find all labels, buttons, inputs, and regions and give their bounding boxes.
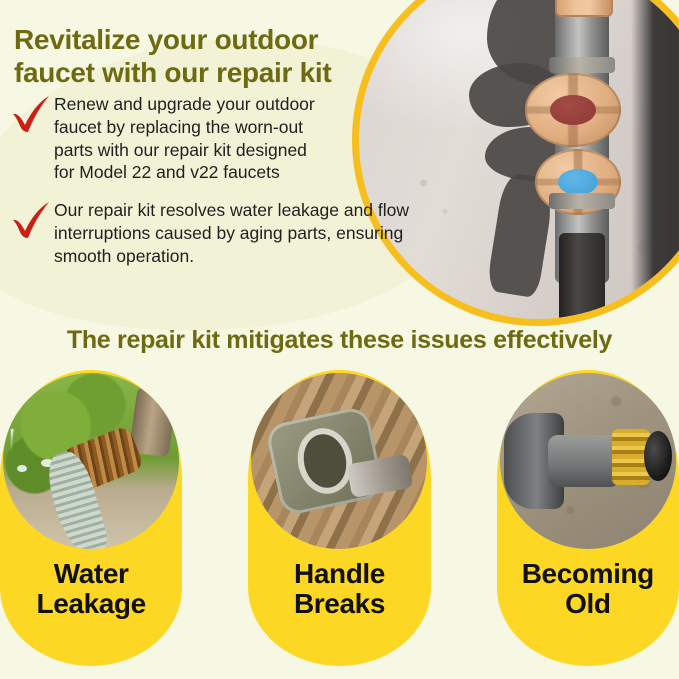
page-title: Revitalize your outdoor faucet with our … <box>14 24 364 90</box>
product-infographic: Revitalize your outdoor faucet with our … <box>0 0 679 679</box>
red-check-icon <box>8 200 54 240</box>
leaking-hose-connection-photo <box>3 373 179 549</box>
card-label-line-1: Becoming <box>522 559 654 589</box>
list-item-text: Renew and upgrade your outdoor faucet by… <box>54 92 322 184</box>
card-label-line-2: Breaks <box>294 589 385 619</box>
list-item-text: Our repair kit resolves water leakage an… <box>54 198 426 267</box>
attached-hose <box>559 233 605 319</box>
handle-center-hole <box>299 430 351 492</box>
faucet-top-cap <box>555 0 613 17</box>
cold-handle-cap <box>558 169 598 195</box>
hot-handle-cap <box>550 95 596 125</box>
list-item: Our repair kit resolves water leakage an… <box>8 198 428 267</box>
card-label-line-2: Old <box>522 589 654 619</box>
faucet-collar <box>549 57 615 73</box>
card-label-line-1: Water <box>37 559 146 589</box>
faucet-hot-handle <box>525 73 621 147</box>
card-label-line-2: Leakage <box>37 589 146 619</box>
card-label-line-1: Handle <box>294 559 385 589</box>
card-label: Becoming Old <box>522 559 654 618</box>
corroded-old-faucet-photo <box>500 373 676 549</box>
issue-card-list: Water Leakage Handle Breaks <box>0 370 679 670</box>
issue-card-handle-breaks: Handle Breaks <box>248 370 430 666</box>
issue-card-becoming-old: Becoming Old <box>497 370 679 666</box>
list-item: Renew and upgrade your outdoor faucet by… <box>8 92 428 184</box>
faucet-lower-collar <box>549 193 615 209</box>
issue-card-water-leakage: Water Leakage <box>0 370 182 666</box>
red-check-icon <box>8 94 54 134</box>
old-faucet-body <box>548 435 620 487</box>
card-label: Handle Breaks <box>294 559 385 618</box>
broken-faucet-handle-photo <box>251 373 427 549</box>
benefit-list: Renew and upgrade your outdoor faucet by… <box>8 92 428 281</box>
wall-shadow-band <box>631 0 679 319</box>
section-heading: The repair kit mitigates these issues ef… <box>0 326 679 355</box>
black-cap <box>644 431 672 481</box>
card-label: Water Leakage <box>37 559 146 618</box>
